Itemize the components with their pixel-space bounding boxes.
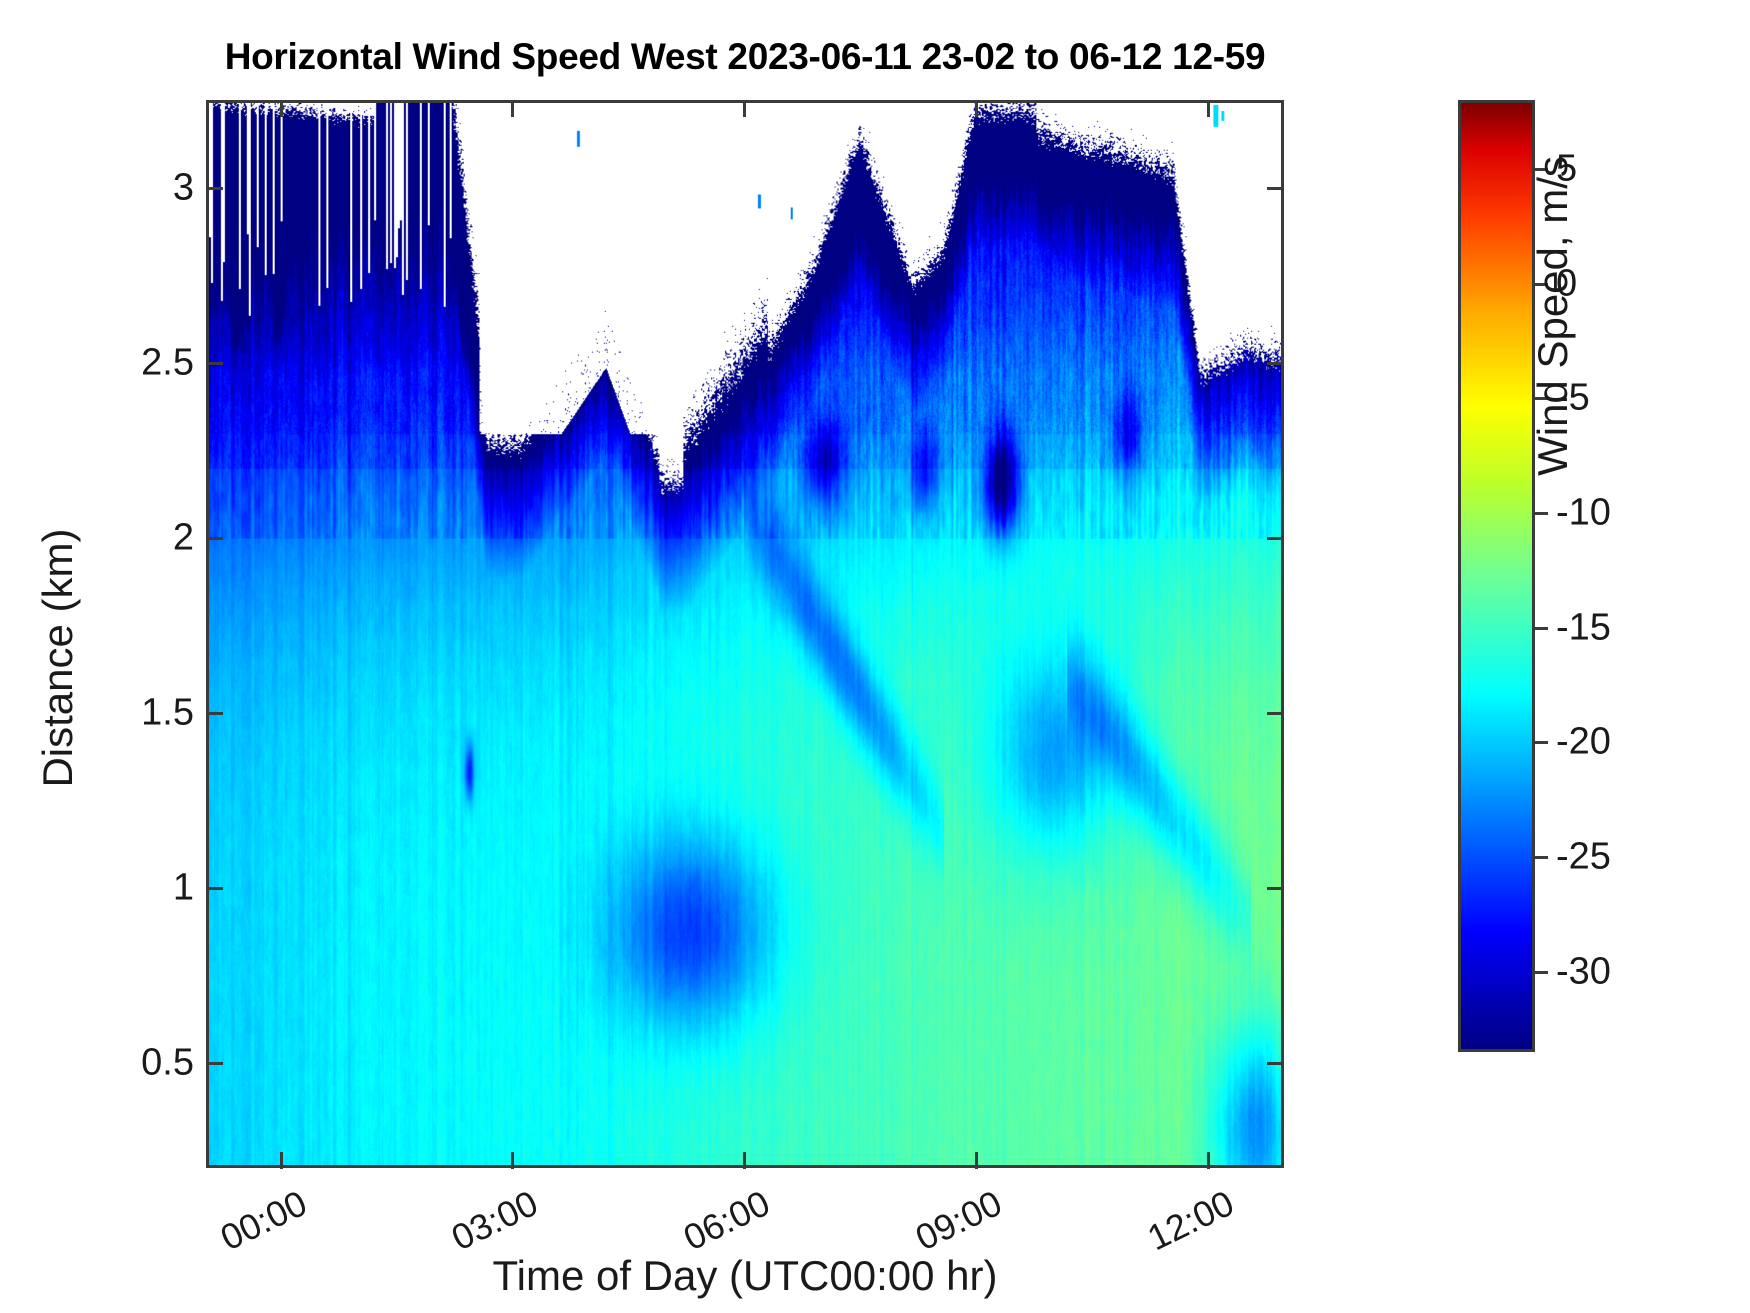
- colorbar[interactable]: 50-5-10-15-20-25-30: [1458, 100, 1535, 1052]
- colorbar-tick-label: -20: [1556, 721, 1611, 764]
- y-tick-mark: [206, 362, 223, 365]
- colorbar-tick-mark: [1535, 856, 1548, 859]
- colorbar-tick-mark: [1535, 971, 1548, 974]
- colorbar-tick-label: -15: [1556, 606, 1611, 649]
- y-tick-mark: [206, 1062, 223, 1065]
- colorbar-tick-label: -30: [1556, 950, 1611, 993]
- x-tick-mark: [511, 100, 514, 117]
- y-tick-mark: [1267, 887, 1284, 890]
- figure-root: Horizontal Wind Speed West 2023-06-11 23…: [0, 0, 1750, 1313]
- x-tick-mark: [1207, 1152, 1210, 1169]
- y-tick-label: 1: [173, 866, 194, 909]
- x-tick-mark: [743, 1152, 746, 1169]
- x-axis-title: Time of Day (UTC00:00 hr): [206, 1252, 1284, 1300]
- colorbar-tick-mark: [1535, 741, 1548, 744]
- page-title: Horizontal Wind Speed West 2023-06-11 23…: [0, 36, 1490, 78]
- y-tick-mark: [1267, 187, 1284, 190]
- y-tick-label: 2.5: [141, 341, 194, 384]
- y-axis-title: Distance (km): [34, 448, 82, 868]
- x-tick-mark: [743, 100, 746, 117]
- x-tick-mark: [1207, 100, 1210, 117]
- x-tick-mark: [280, 100, 283, 117]
- y-tick-mark: [1267, 537, 1284, 540]
- heatmap-image: [209, 103, 1281, 1165]
- y-tick-label: 1.5: [141, 691, 194, 734]
- y-tick-mark: [206, 712, 223, 715]
- heatmap-axes[interactable]: [206, 100, 1284, 1168]
- y-tick-label: 2: [173, 516, 194, 559]
- y-tick-mark: [1267, 362, 1284, 365]
- y-tick-label: 0.5: [141, 1041, 194, 1084]
- y-tick-mark: [206, 537, 223, 540]
- y-tick-mark: [206, 887, 223, 890]
- y-tick-label: 3: [173, 166, 194, 209]
- colorbar-tick-mark: [1535, 627, 1548, 630]
- y-tick-mark: [1267, 712, 1284, 715]
- x-tick-mark: [280, 1152, 283, 1169]
- x-tick-mark: [975, 100, 978, 117]
- y-tick-mark: [1267, 1062, 1284, 1065]
- colorbar-gradient: [1458, 100, 1535, 1052]
- y-tick-mark: [206, 187, 223, 190]
- colorbar-title: Wind Speed, m/s: [1529, 56, 1577, 576]
- x-tick-mark: [975, 1152, 978, 1169]
- x-tick-mark: [511, 1152, 514, 1169]
- colorbar-tick-label: -25: [1556, 836, 1611, 879]
